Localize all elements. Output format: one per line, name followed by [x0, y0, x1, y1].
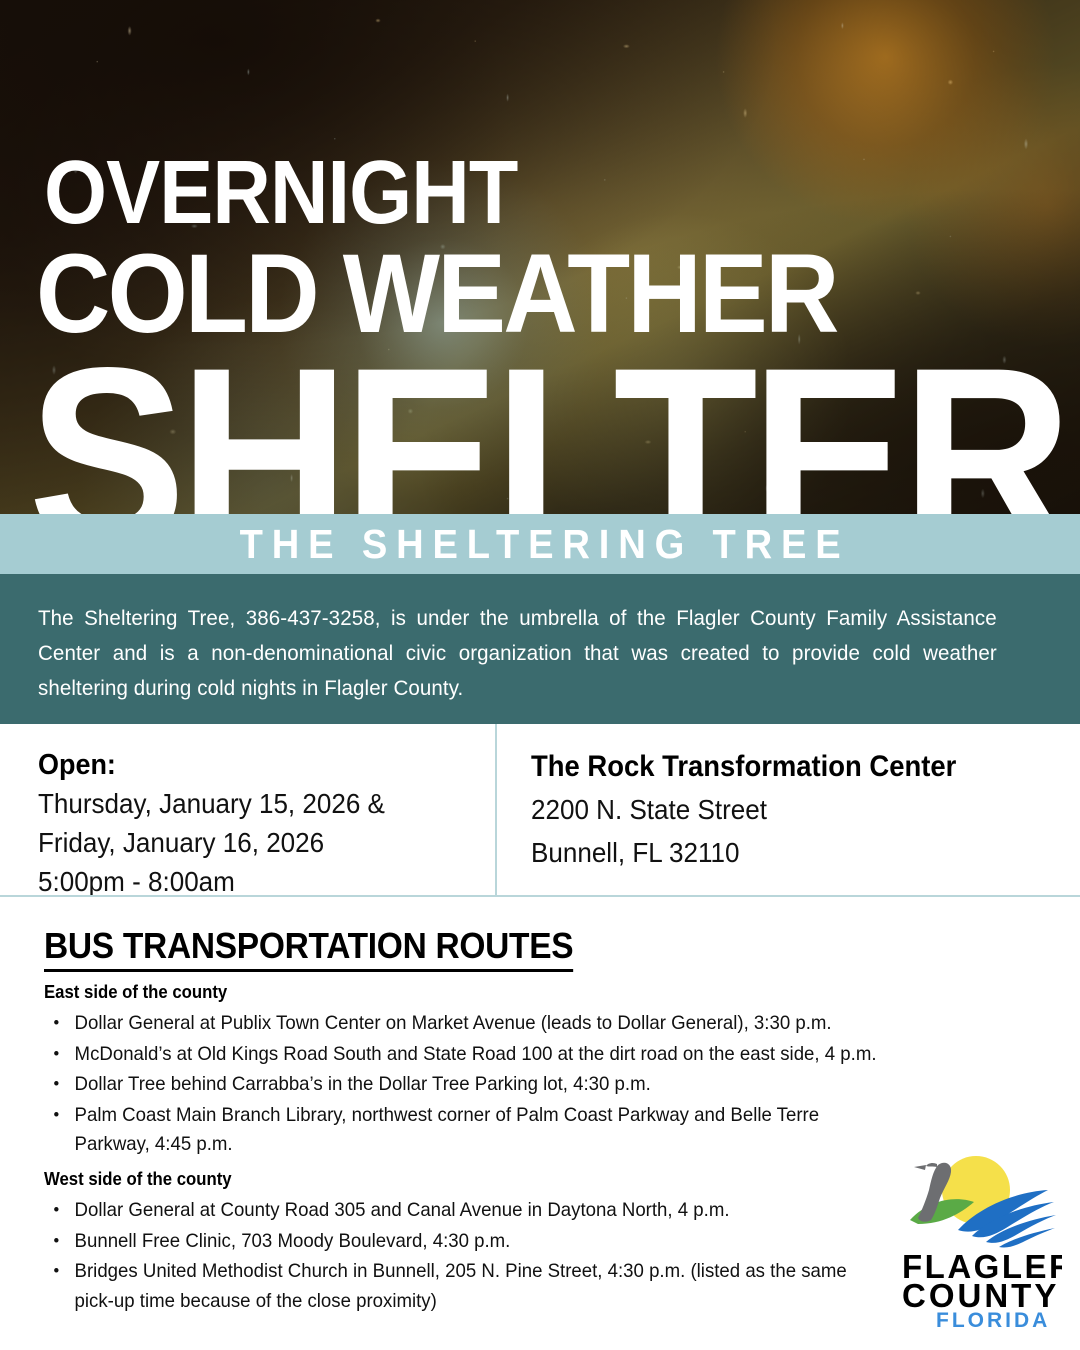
open-label: Open: — [38, 746, 447, 784]
list-item: McDonald’s at Old Kings Road South and S… — [44, 1040, 884, 1070]
venue-city-state-zip: Bunnell, FL 32110 — [531, 831, 1015, 874]
open-date-line-2: Friday, January 16, 2026 — [38, 823, 447, 862]
flagler-county-logo: FLAGLER COUNTY FLORIDA — [896, 1152, 1062, 1328]
list-item: Dollar General at Publix Town Center on … — [44, 1009, 884, 1039]
info-vertical-divider — [495, 724, 497, 897]
intro-band: The Sheltering Tree, 386-437-3258, is un… — [0, 574, 1080, 724]
intro-paragraph: The Sheltering Tree, 386-437-3258, is un… — [38, 601, 997, 706]
open-date-line-1: Thursday, January 15, 2026 & — [38, 784, 447, 823]
subtitle-band: THE SHELTERING TREE — [0, 514, 1080, 574]
list-item: Bunnell Free Clinic, 703 Moody Boulevard… — [44, 1227, 884, 1257]
routes-group-east: East side of the county Dollar General a… — [44, 981, 924, 1161]
open-hours-column: Open: Thursday, January 15, 2026 & Frida… — [38, 746, 478, 901]
flagler-county-logo-text: FLAGLER COUNTY FLORIDA — [902, 1248, 1062, 1328]
bus-routes-title: BUS TRANSPORTATION ROUTES — [44, 928, 573, 972]
routes-group-west-list: Dollar General at County Road 305 and Ca… — [44, 1196, 924, 1316]
list-item: Bridges United Methodist Church in Bunne… — [44, 1257, 884, 1316]
logo-text-florida: FLORIDA — [936, 1309, 1050, 1328]
headline-line-overnight: OVERNIGHT — [44, 148, 517, 238]
routes-group-west: West side of the county Dollar General a… — [44, 1168, 924, 1317]
routes-group-east-list: Dollar General at Publix Town Center on … — [44, 1009, 924, 1160]
venue-column: The Rock Transformation Center 2200 N. S… — [531, 746, 1051, 874]
flagler-county-logo-mark: FLAGLER COUNTY FLORIDA — [896, 1152, 1062, 1328]
info-row: Open: Thursday, January 15, 2026 & Frida… — [0, 724, 1080, 897]
routes-group-east-heading: East side of the county — [44, 981, 862, 1003]
venue-name: The Rock Transformation Center — [531, 746, 1015, 788]
subtitle-text: THE SHELTERING TREE — [231, 524, 849, 565]
headline-line-shelter: SHELTER — [28, 330, 1065, 514]
hero-section: OVERNIGHT COLD WEATHER SHELTER — [0, 0, 1080, 514]
list-item: Dollar General at County Road 305 and Ca… — [44, 1196, 884, 1226]
hero-headline: OVERNIGHT COLD WEATHER SHELTER — [0, 0, 1080, 514]
poster-root: OVERNIGHT COLD WEATHER SHELTER THE SHELT… — [0, 0, 1080, 1350]
list-item: Palm Coast Main Branch Library, northwes… — [44, 1101, 884, 1160]
routes-group-west-heading: West side of the county — [44, 1168, 862, 1190]
list-item: Dollar Tree behind Carrabba’s in the Dol… — [44, 1070, 884, 1100]
venue-street: 2200 N. State Street — [531, 788, 1015, 831]
